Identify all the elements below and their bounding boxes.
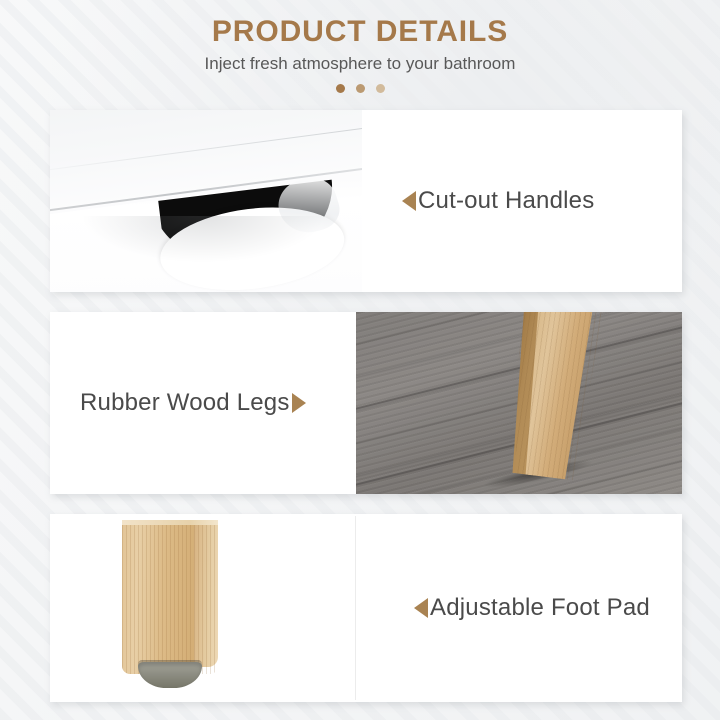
tapered-wood-leg <box>490 312 606 482</box>
decorative-dots <box>0 84 720 93</box>
page-title: PRODUCT DETAILS <box>0 14 720 49</box>
caption-adjustable-foot-pad: Adjustable Foot Pad <box>414 594 650 622</box>
feature-panel-cut-out-handles: Cut-out Handles <box>50 110 682 292</box>
arrow-right-icon <box>292 393 306 413</box>
adjustable-foot-pad-label-cell: Adjustable Foot Pad <box>356 514 682 702</box>
handle-soft-shadow <box>81 216 324 263</box>
caption-text: Adjustable Foot Pad <box>430 594 650 622</box>
leg-top-edge <box>122 520 218 525</box>
page-subtitle: Inject fresh atmosphere to your bathroom <box>0 54 720 74</box>
rubber-wood-legs-label-cell: Rubber Wood Legs <box>50 312 356 494</box>
caption-text: Cut-out Handles <box>418 187 594 215</box>
dot-1 <box>336 84 345 93</box>
square-wood-leg <box>122 520 218 674</box>
arrow-left-icon <box>402 191 416 211</box>
dot-2 <box>356 84 365 93</box>
adjustable-foot-pad-photo <box>50 514 356 702</box>
product-details-page: PRODUCT DETAILS Inject fresh atmosphere … <box>0 0 720 720</box>
arrow-left-icon <box>414 598 428 618</box>
caption-cut-out-handles: Cut-out Handles <box>402 187 594 215</box>
feature-panel-adjustable-foot-pad: Adjustable Foot Pad <box>50 514 682 702</box>
leg-wood-grain <box>122 520 218 674</box>
cut-out-handle-photo <box>50 110 362 292</box>
adjustable-foot-pad <box>138 662 202 688</box>
caption-text: Rubber Wood Legs <box>80 389 290 417</box>
rubber-wood-leg-photo <box>356 312 682 494</box>
feature-panel-rubber-wood-legs: Rubber Wood Legs <box>50 312 682 494</box>
caption-rubber-wood-legs: Rubber Wood Legs <box>80 389 306 417</box>
header: PRODUCT DETAILS Inject fresh atmosphere … <box>0 14 720 93</box>
cut-out-handles-label-cell: Cut-out Handles <box>362 110 682 292</box>
leg-wood-grain <box>490 312 606 482</box>
dot-3 <box>376 84 385 93</box>
